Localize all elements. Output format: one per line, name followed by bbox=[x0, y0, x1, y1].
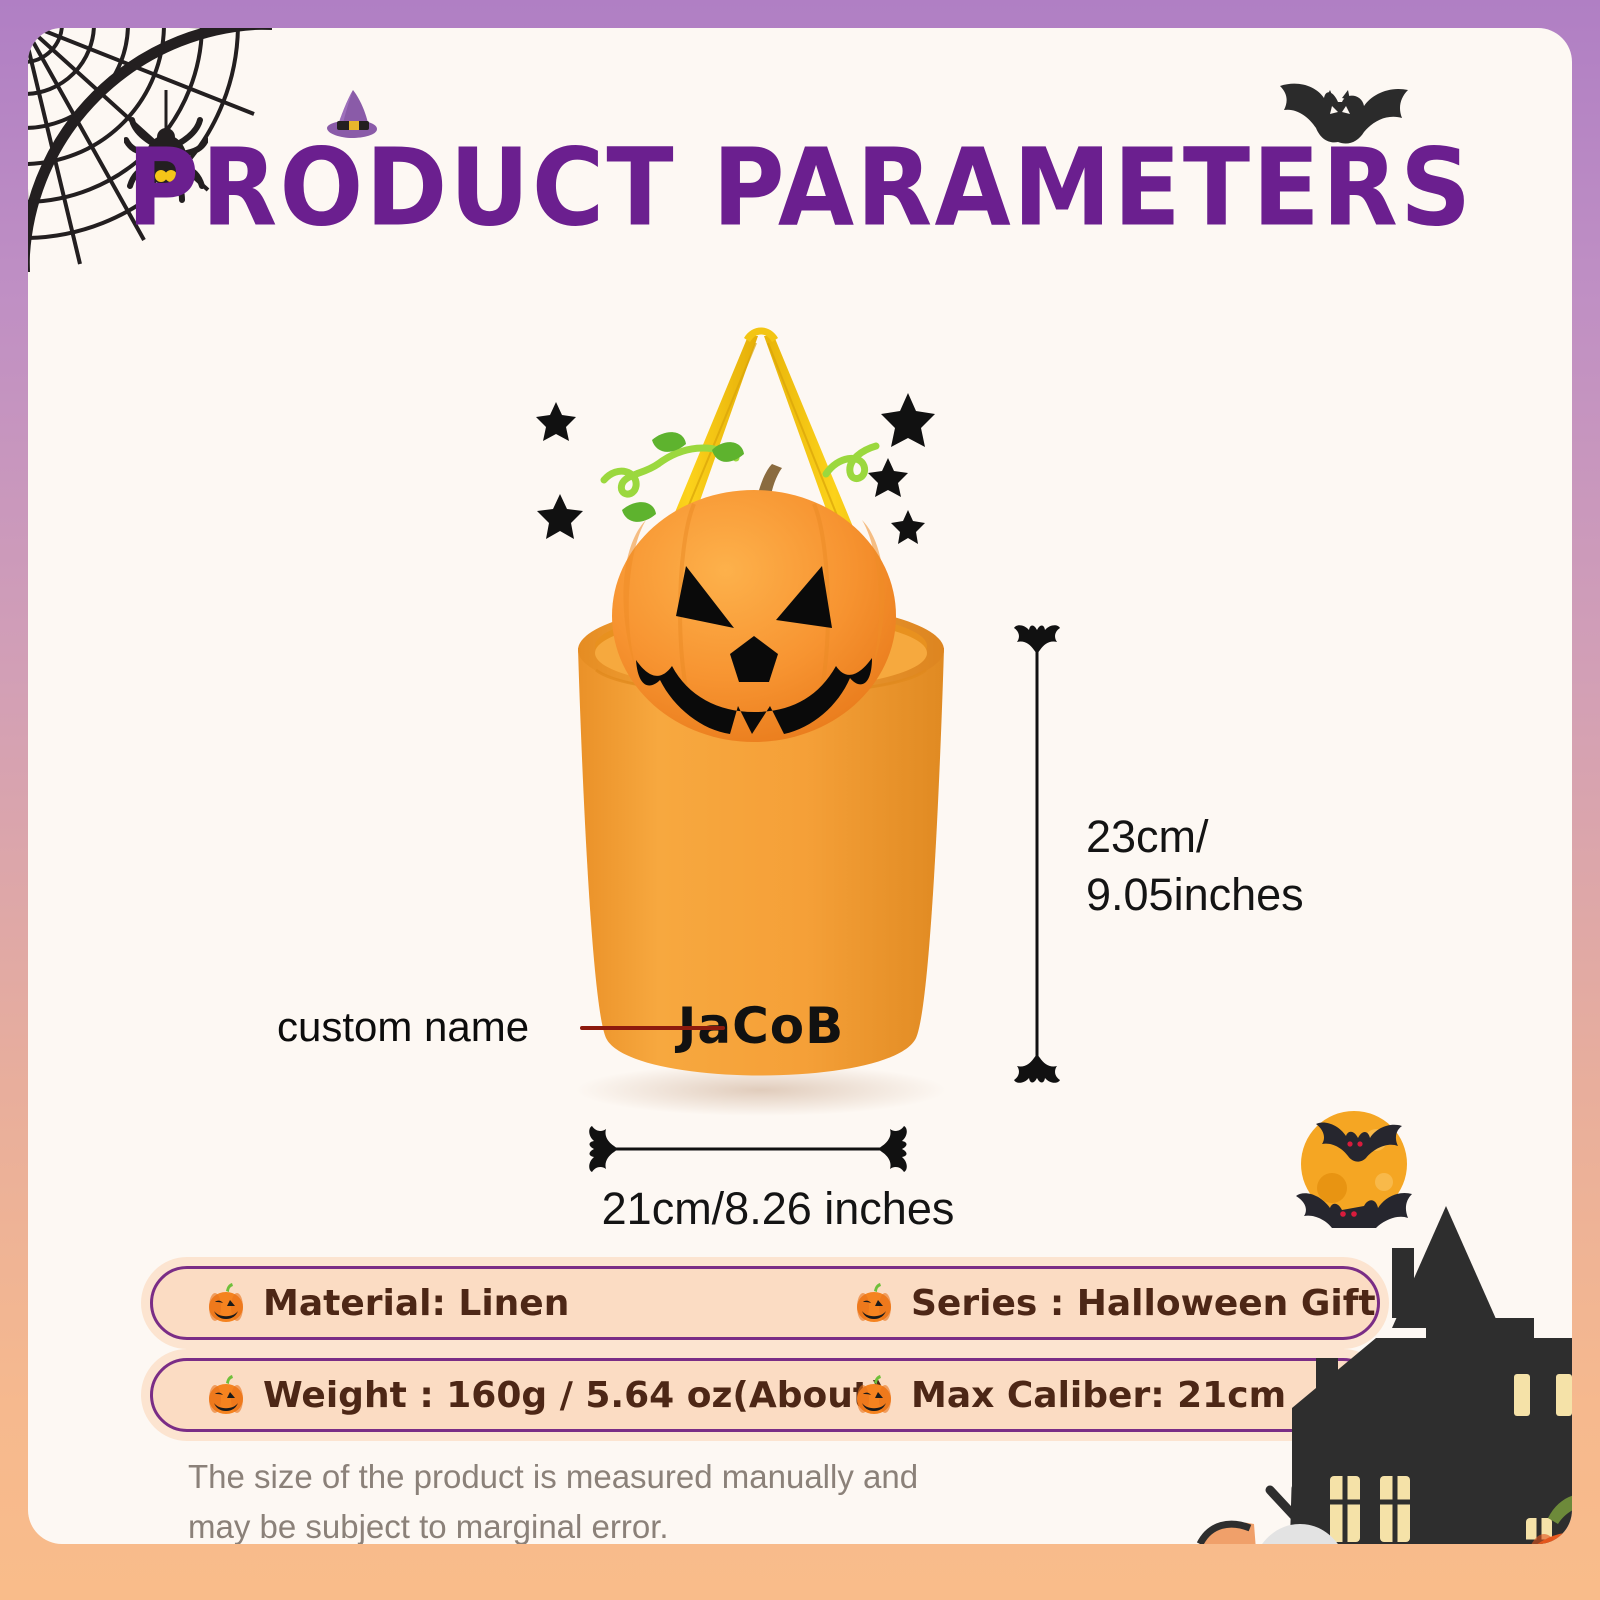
haunted-house-icon bbox=[1196, 1188, 1572, 1544]
spec-text-weight: Weight : 160g / 5.64 oz(About) bbox=[263, 1375, 887, 1416]
spec-item-material: Material: Linen bbox=[205, 1282, 569, 1324]
jack-o-lantern-icon bbox=[853, 1282, 895, 1324]
witch-hat-icon bbox=[323, 88, 379, 146]
jack-o-lantern-icon bbox=[205, 1374, 247, 1416]
disclaimer-text: The size of the product is measured manu… bbox=[188, 1452, 948, 1544]
height-dimension-label: 23cm/ 9.05inches bbox=[1086, 808, 1304, 923]
height-dimension-line bbox=[1014, 624, 1060, 1084]
jack-o-lantern-icon bbox=[853, 1374, 895, 1416]
jack-o-lantern-icon bbox=[205, 1282, 247, 1324]
width-dimension-line bbox=[588, 1126, 908, 1172]
width-dimension-label: 21cm/8.26 inches bbox=[568, 1183, 988, 1235]
spec-item-weight: Weight : 160g / 5.64 oz(About) bbox=[205, 1374, 887, 1416]
custom-name-callout-label: custom name bbox=[277, 1003, 529, 1051]
spec-text-material: Material: Linen bbox=[263, 1283, 569, 1324]
product-image-tote-bag: JaCoB bbox=[526, 298, 996, 1118]
infographic-card: PRODUCT PARAMETERS bbox=[28, 28, 1572, 1544]
bat-icon bbox=[1250, 76, 1430, 184]
custom-name-callout-line bbox=[580, 1026, 725, 1030]
